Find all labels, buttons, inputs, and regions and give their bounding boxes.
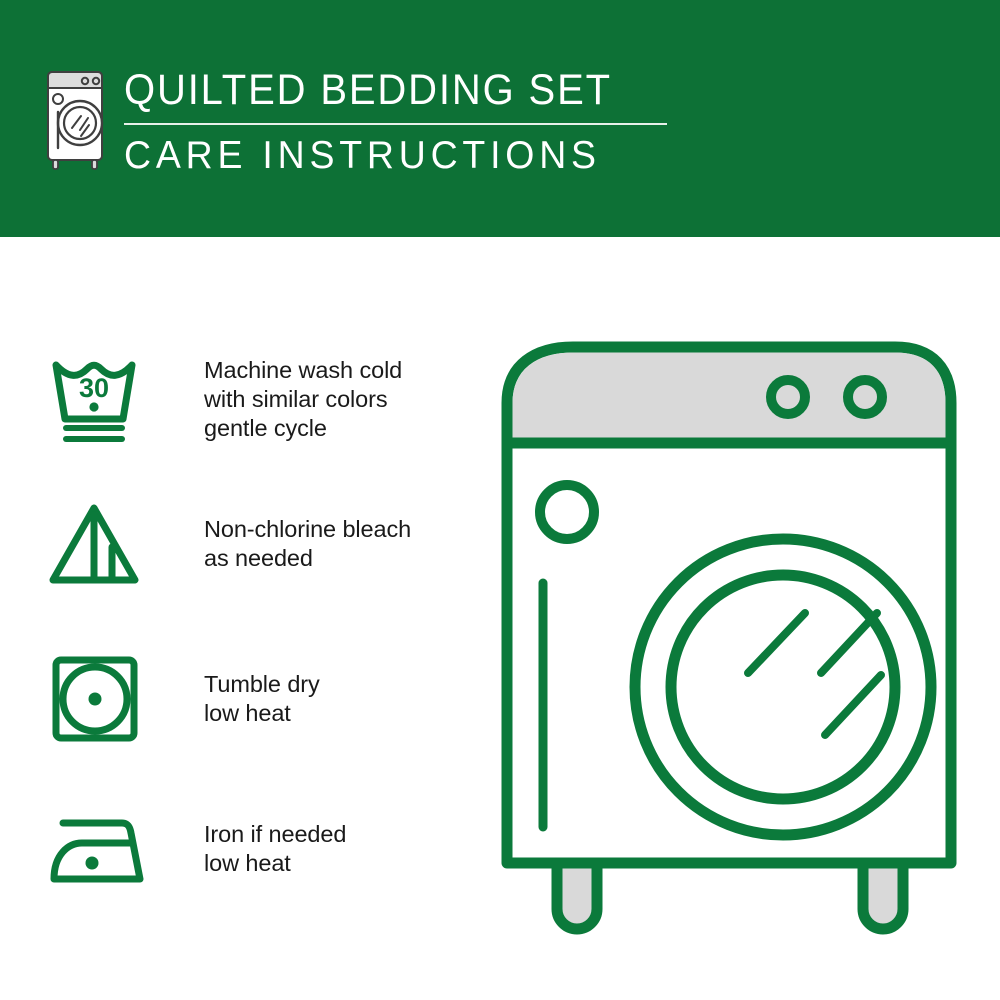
care-item-iron: Iron if needed low heat — [44, 795, 346, 903]
bleach-triangle-icon — [44, 490, 152, 598]
page-subtitle: CARE INSTRUCTIONS — [124, 134, 645, 178]
care-item-label: Non-chlorine bleach as needed — [204, 515, 411, 573]
dry-heat-dot — [89, 693, 102, 706]
washing-machine-illustration — [495, 335, 975, 935]
wash-tub-30-icon: 30 — [44, 345, 152, 453]
iron-low-heat-icon — [44, 795, 152, 903]
wash-dot — [89, 402, 98, 411]
iron-heat-dot — [86, 857, 99, 870]
care-item-wash: 30 Machine wash cold with similar colors… — [44, 345, 402, 453]
header-banner: QUILTED BEDDING SET CARE INSTRUCTIONS — [0, 0, 1000, 237]
wash-temperature-label: 30 — [79, 373, 109, 403]
header-title-group: QUILTED BEDDING SET CARE INSTRUCTIONS — [124, 66, 667, 178]
page-title: QUILTED BEDDING SET — [124, 66, 629, 114]
care-item-label: Tumble dry low heat — [204, 670, 320, 728]
care-instructions-infographic: QUILTED BEDDING SET CARE INSTRUCTIONS 30… — [0, 0, 1000, 1000]
care-item-tumble-dry: Tumble dry low heat — [44, 645, 320, 753]
header-content: QUILTED BEDDING SET CARE INSTRUCTIONS — [44, 66, 667, 178]
title-divider — [124, 123, 667, 125]
care-item-bleach: Non-chlorine bleach as needed — [44, 490, 411, 598]
leg-right — [863, 863, 903, 929]
care-item-label: Machine wash cold with similar colors ge… — [204, 356, 402, 443]
washing-machine-icon — [44, 66, 106, 174]
care-item-label: Iron if needed low heat — [204, 820, 346, 878]
leg-left — [557, 863, 597, 929]
care-instruction-list: 30 Machine wash cold with similar colors… — [0, 237, 480, 1000]
tumble-dry-low-icon — [44, 645, 152, 753]
